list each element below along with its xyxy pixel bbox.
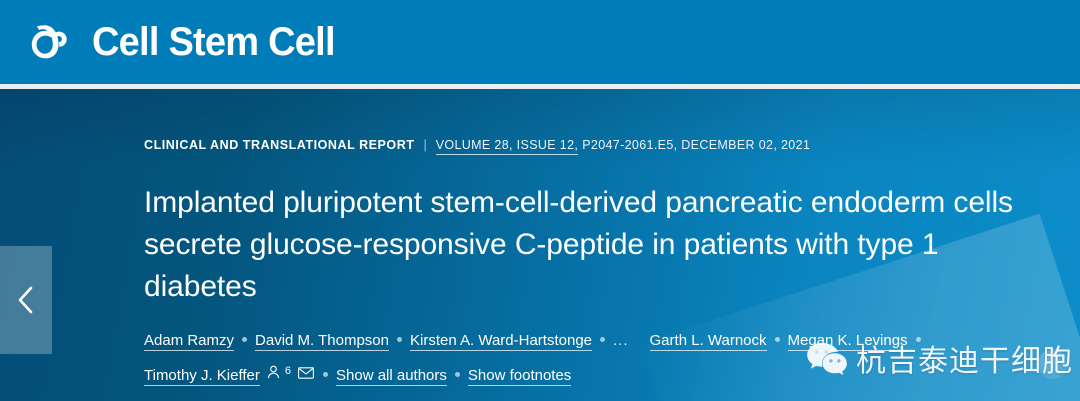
author-separator-dot: [242, 337, 247, 342]
journal-masthead: Cell Stem Cell: [0, 0, 1080, 84]
author-link[interactable]: Adam Ramzy: [144, 332, 234, 351]
author-link[interactable]: Kirsten A. Ward-Hartstonge: [410, 332, 592, 351]
affiliation-number: 6: [285, 365, 291, 377]
issue-link[interactable]: VOLUME 28, ISSUE 12,: [436, 138, 578, 155]
envelope-icon[interactable]: [298, 360, 314, 390]
author-separator-dot: [397, 337, 402, 342]
author-separator-dot: [916, 337, 921, 342]
author-link[interactable]: Garth L. Warnock: [650, 332, 767, 351]
chevron-left-icon: [16, 284, 36, 316]
person-icon[interactable]: [267, 360, 280, 390]
author-separator-dot: [323, 372, 328, 377]
author-list: Adam RamzyDavid M. ThompsonKirsten A. Wa…: [144, 326, 1064, 393]
previous-article-button[interactable]: [0, 246, 52, 354]
journal-title: Cell Stem Cell: [92, 22, 335, 62]
show-footnotes-link[interactable]: Show footnotes: [468, 367, 571, 386]
author-link[interactable]: Megan K. Levings: [788, 332, 908, 351]
authors-ellipsis: ...: [613, 332, 629, 349]
article-title: Implanted pluripotent stem-cell-derived …: [144, 182, 1044, 308]
corresponding-author-link[interactable]: Timothy J. Kieffer: [144, 367, 260, 386]
meta-divider: |: [423, 138, 426, 152]
issue-details: P2047-2061.E5, DECEMBER 02, 2021: [582, 138, 810, 152]
cell-press-loop-icon: [28, 19, 74, 65]
article-meta: CLINICAL AND TRANSLATIONAL REPORT | VOLU…: [144, 138, 810, 155]
author-separator-dot: [600, 337, 605, 342]
show-all-authors-link[interactable]: Show all authors: [336, 367, 447, 386]
author-separator-dot: [455, 372, 460, 377]
article-type-label: CLINICAL AND TRANSLATIONAL REPORT: [144, 138, 414, 152]
author-separator-dot: [775, 337, 780, 342]
article-hero-page: Cell Stem Cell CLINICAL AND TRANSLATIONA…: [0, 0, 1080, 401]
author-link[interactable]: David M. Thompson: [255, 332, 389, 351]
